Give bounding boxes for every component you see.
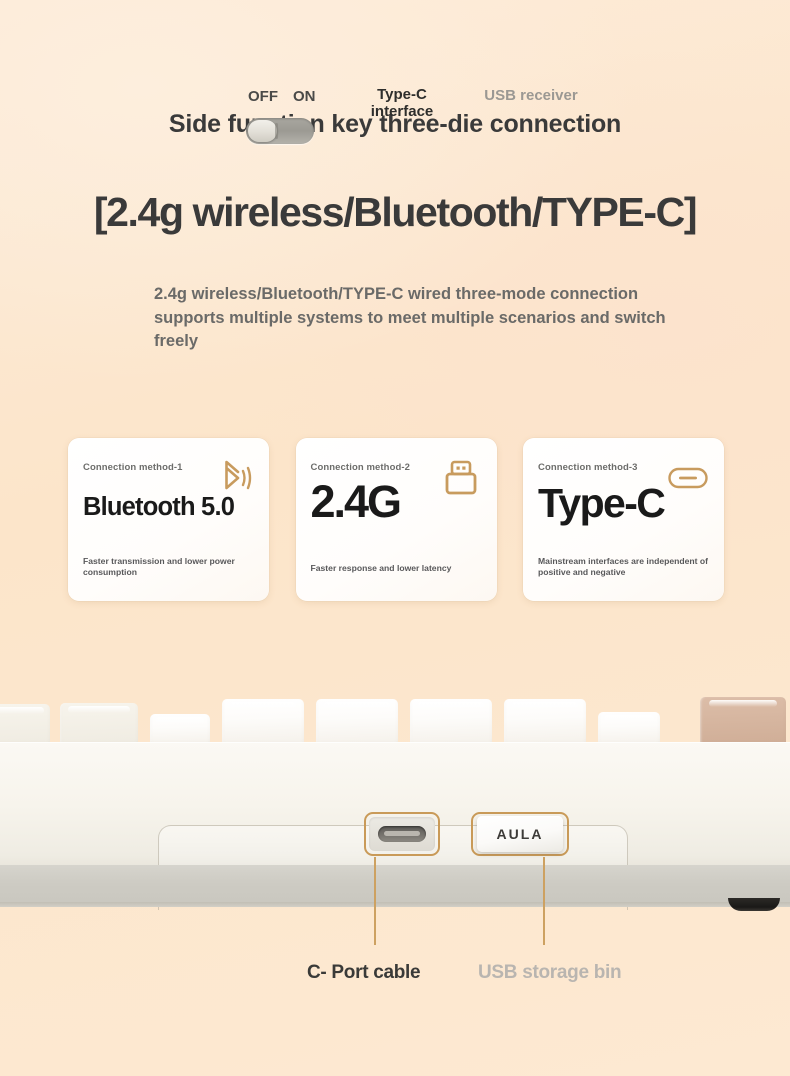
- hero-title: [2.4g wireless/Bluetooth/TYPE-C]: [0, 189, 790, 236]
- keycap: [0, 704, 50, 747]
- typec-interface-label: Type-C interface: [352, 87, 452, 121]
- keycap: [504, 699, 586, 747]
- aula-brand-logo: AULA: [497, 826, 544, 842]
- usb-dongle-icon: [439, 456, 483, 500]
- keycap-accent: [700, 697, 786, 747]
- hero-section: Side function key three-die connection […: [0, 0, 790, 354]
- typec-port-icon: [378, 826, 426, 842]
- keyboard-base-edge: [0, 865, 790, 907]
- usb-receiver-dongle: AULA: [477, 816, 563, 852]
- keyboard-rubber-foot: [728, 898, 780, 911]
- switch-off-label: OFF: [248, 88, 278, 105]
- keycap: [316, 699, 398, 747]
- keycap: [222, 699, 304, 747]
- card-1-description: Faster transmission and lower power cons…: [83, 556, 257, 579]
- keycap-row: [0, 690, 790, 747]
- callout-label-usb-storage-bin: USB storage bin: [478, 962, 621, 984]
- keyboard-photo: [0, 690, 790, 905]
- power-toggle-switch[interactable]: [246, 118, 314, 144]
- toggle-knob[interactable]: [248, 120, 277, 142]
- usb-receiver-label: USB receiver: [460, 87, 602, 104]
- bluetooth-icon: [211, 456, 255, 500]
- usb-c-port-icon: [666, 456, 710, 500]
- connection-method-card-2[interactable]: Connection method-2 2.4G Faster response…: [296, 438, 497, 601]
- connection-method-card-3[interactable]: Connection method-3 Type-C Mainstream in…: [523, 438, 724, 601]
- card-2-description: Faster response and lower latency: [311, 563, 485, 575]
- callout-label-c-port-cable: C- Port cable: [307, 962, 420, 984]
- keycap: [60, 703, 138, 747]
- callout-leader-line: [374, 857, 376, 945]
- connection-method-card-1[interactable]: Connection method-1 Bluetooth 5.0 Faster…: [68, 438, 269, 601]
- hero-description: 2.4g wireless/Bluetooth/TYPE-C wired thr…: [111, 283, 679, 354]
- connection-methods-cards: Connection method-1 Bluetooth 5.0 Faster…: [68, 438, 724, 601]
- keycap: [410, 699, 492, 747]
- product-feature-page: Side function key three-die connection […: [0, 0, 790, 1076]
- card-3-description: Mainstream interfaces are independent of…: [538, 556, 712, 579]
- callout-leader-line: [543, 857, 545, 945]
- switch-on-label: ON: [293, 88, 316, 105]
